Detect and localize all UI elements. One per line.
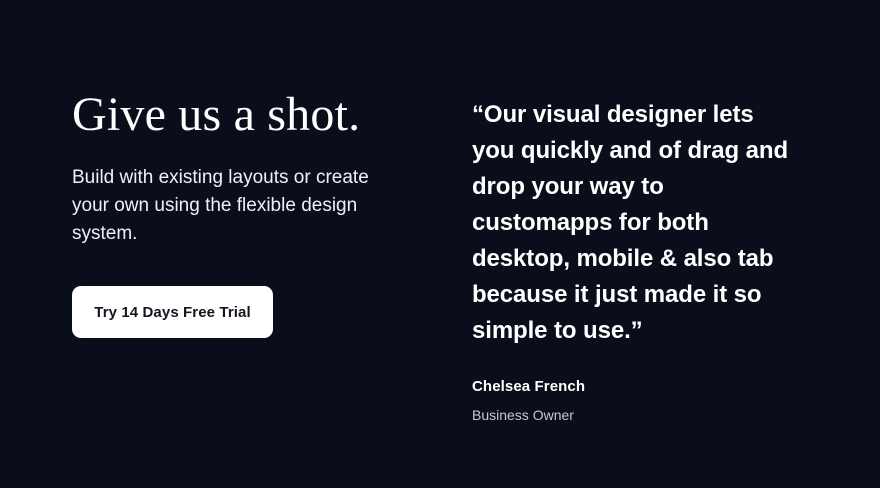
testimonial-author: Chelsea French Business Owner	[472, 377, 802, 424]
page-title: Give us a shot.	[72, 88, 417, 142]
hero-section: Give us a shot. Build with existing layo…	[0, 0, 880, 488]
author-name: Chelsea French	[472, 377, 802, 397]
hero-subcopy: Build with existing layouts or create yo…	[72, 164, 407, 248]
hero-left-column: Give us a shot. Build with existing layo…	[72, 88, 417, 248]
author-role: Business Owner	[472, 406, 802, 424]
testimonial-quote: “Our visual designer lets you quickly an…	[472, 97, 802, 349]
testimonial-block: “Our visual designer lets you quickly an…	[472, 97, 802, 424]
free-trial-button[interactable]: Try 14 Days Free Trial	[72, 286, 273, 338]
